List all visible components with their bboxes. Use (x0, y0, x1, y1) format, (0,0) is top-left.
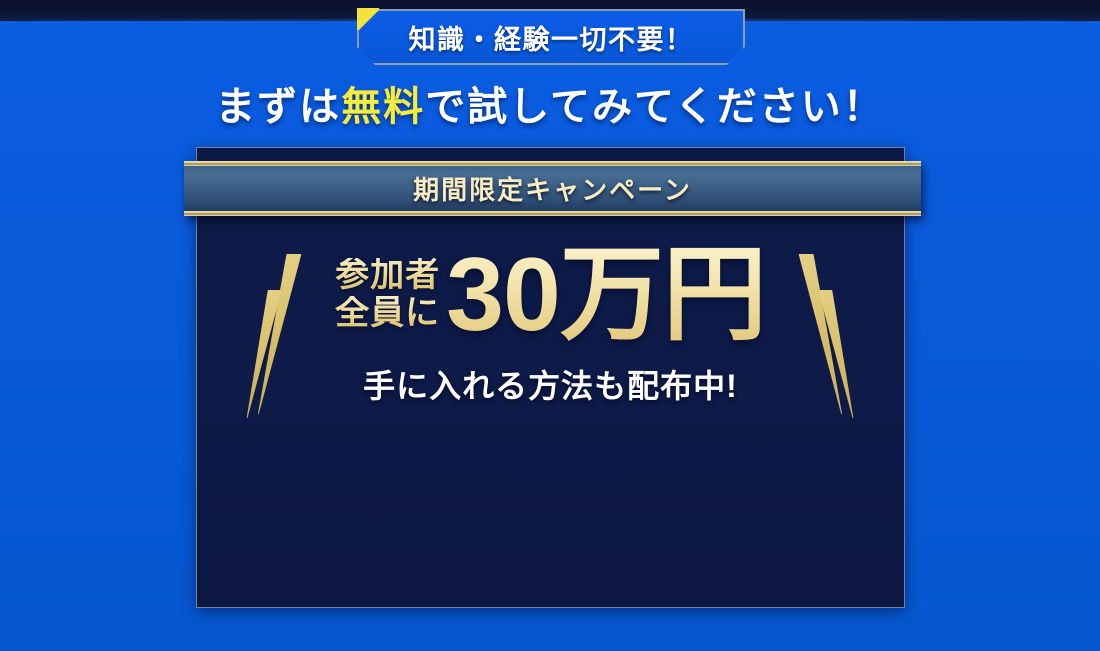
offer-qualifier-line-2: 全員に (335, 296, 440, 330)
headline-suffix: で試してみてください！ (425, 85, 885, 129)
offer-block: 参加者 全員に 30万円 手に入れる方法も配布中! (196, 238, 905, 407)
no-experience-badge: 知識・経験一切不要！ (357, 9, 745, 65)
badge-label: 知識・経験一切不要！ (357, 9, 745, 65)
campaign-ribbon: 期間限定キャンペーン (184, 161, 921, 216)
page-headline: まずは無料で試してみてください！ (0, 74, 1100, 132)
offer-qualifier-line-1: 参加者 (335, 258, 440, 292)
headline-prefix: まずは (215, 85, 341, 129)
promo-banner: 知識・経験一切不要！ まずは無料で試してみてください！ 期間限定キャンペーン 参… (0, 0, 1100, 651)
offer-subtext: 手に入れる方法も配布中! (363, 361, 738, 407)
headline-highlight-free: 無料 (341, 85, 425, 129)
campaign-ribbon-label: 期間限定キャンペーン (184, 161, 921, 216)
offer-amount: 30万円 (446, 246, 766, 346)
offer-main-row: 参加者 全員に 30万円 (335, 238, 766, 353)
offer-qualifier: 参加者 全員に (335, 258, 440, 334)
